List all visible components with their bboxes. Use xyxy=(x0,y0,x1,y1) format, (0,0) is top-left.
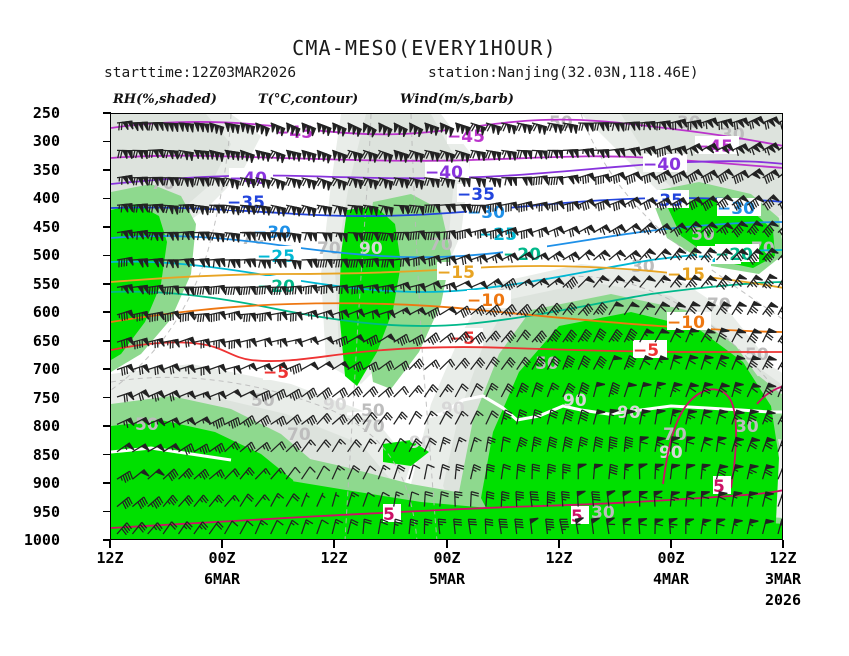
wind-barb xyxy=(270,205,285,216)
wind-barb xyxy=(547,201,564,211)
y-axis-tick-label: 350 xyxy=(0,161,60,179)
wind-barb xyxy=(609,200,626,211)
wind-barb xyxy=(225,311,241,321)
svg-text:90: 90 xyxy=(563,391,587,411)
y-axis-tick-label: 800 xyxy=(0,417,60,435)
x-axis-hour-label: 00Z xyxy=(162,549,282,567)
x-axis-year-label: 2026 xyxy=(723,591,843,609)
wind-barb xyxy=(286,312,302,321)
starttime-label: starttime:12Z03MAR2026 xyxy=(104,65,296,81)
wind-barb xyxy=(240,287,255,295)
wind-barb xyxy=(302,285,318,294)
wind-barb xyxy=(209,205,224,213)
y-axis-tick-label: 550 xyxy=(0,275,60,293)
svg-text:5: 5 xyxy=(383,505,395,525)
wind-barb xyxy=(778,302,783,315)
y-axis-tick xyxy=(103,511,111,513)
wind-barb xyxy=(532,227,549,237)
x-axis-tick xyxy=(333,540,335,548)
x-axis-date-label: 4MAR xyxy=(611,570,731,588)
svg-text:−10: −10 xyxy=(667,313,705,333)
wind-barb xyxy=(563,175,579,184)
wind-barb xyxy=(255,150,270,161)
y-axis-tick-label: 1000 xyxy=(0,531,60,549)
wind-barb xyxy=(578,123,593,131)
svg-text:−20: −20 xyxy=(503,245,541,265)
wind-barb xyxy=(302,259,317,267)
wind-barb xyxy=(302,150,316,162)
y-axis-tick xyxy=(103,368,111,370)
y-axis-tick-label: 250 xyxy=(0,104,60,122)
wind-barb xyxy=(547,252,564,262)
y-axis-tick-label: 600 xyxy=(0,303,60,321)
svg-text:−40: −40 xyxy=(643,155,681,175)
wind-barb xyxy=(517,177,532,185)
wind-barb xyxy=(286,339,302,347)
x-axis-tick xyxy=(558,540,560,548)
y-axis-tick xyxy=(103,454,111,456)
wind-barb xyxy=(532,202,548,211)
wind-barb xyxy=(271,339,288,348)
y-axis-tick-label: 950 xyxy=(0,503,60,521)
x-axis-tick xyxy=(782,540,784,548)
y-axis-tick-label: 850 xyxy=(0,446,60,464)
y-axis-tick xyxy=(103,283,111,285)
wind-barb xyxy=(501,123,516,134)
wind-barb xyxy=(194,314,210,323)
wind-barb xyxy=(516,123,531,134)
chart-page: CMA-MESO(EVERY1HOUR) starttime:12Z03MAR2… xyxy=(0,0,849,656)
wind-barb xyxy=(670,248,686,260)
legend-rh: RH(%,shaded) xyxy=(113,92,217,107)
wind-barb xyxy=(271,312,287,321)
wind-barb xyxy=(624,172,641,185)
wind-barb xyxy=(300,178,316,190)
wind-barb xyxy=(240,313,256,322)
wind-barb xyxy=(547,227,564,238)
wind-barb xyxy=(255,312,271,321)
y-axis-tick-label: 750 xyxy=(0,389,60,407)
wind-barb xyxy=(209,312,225,323)
x-axis-date-label: 3MAR xyxy=(723,570,843,588)
y-axis-tick xyxy=(103,112,111,114)
wind-barb xyxy=(763,303,778,317)
y-axis-tick xyxy=(103,425,111,427)
wind-barb xyxy=(302,233,317,242)
wind-barb xyxy=(315,178,331,191)
y-axis-tick xyxy=(103,198,111,200)
svg-text:70: 70 xyxy=(317,239,341,259)
legend-temperature: T(°C,contour) xyxy=(258,92,358,107)
wind-barb xyxy=(286,178,301,189)
svg-text:−15: −15 xyxy=(667,265,705,285)
wind-barb xyxy=(578,250,595,260)
wind-barb xyxy=(747,275,762,287)
wind-barb xyxy=(640,223,657,235)
wind-barb xyxy=(240,259,256,267)
wind-barb xyxy=(163,340,179,349)
y-axis-tick-label: 450 xyxy=(0,218,60,236)
wind-barb xyxy=(225,260,240,268)
wind-barb xyxy=(547,177,563,186)
legend-wind: Wind(m/s,barb) xyxy=(400,92,514,107)
y-axis-tick xyxy=(103,141,111,143)
wind-barb xyxy=(732,302,747,315)
x-axis-tick xyxy=(221,540,223,548)
wind-barb xyxy=(394,412,408,425)
wind-barb xyxy=(240,339,257,349)
wind-barb xyxy=(609,251,626,261)
wind-barb xyxy=(302,337,319,345)
wind-barb xyxy=(563,227,580,238)
y-axis-tick xyxy=(103,255,111,257)
cross-section-plot: 70 70 70 50 50 50 50 50 50 50 30 30 30 3… xyxy=(110,113,783,540)
wind-barb xyxy=(225,287,240,295)
wind-barb xyxy=(594,174,611,185)
y-axis-tick xyxy=(103,226,111,228)
x-axis-hour-label: 12Z xyxy=(274,549,394,567)
plot-canvas: 70 70 70 50 50 50 50 50 50 50 30 30 30 3… xyxy=(111,114,783,540)
station-label: station:Nanjing(32.03N,118.46E) xyxy=(428,65,699,81)
y-axis-tick-label: 900 xyxy=(0,474,60,492)
wind-barb xyxy=(194,287,209,295)
wind-barb xyxy=(486,254,503,264)
wind-barb xyxy=(594,250,611,260)
x-axis-tick xyxy=(109,540,111,548)
wind-barb xyxy=(532,176,548,185)
wind-barb xyxy=(563,252,580,262)
wind-barb xyxy=(179,312,195,322)
wind-barb xyxy=(501,178,516,186)
wind-barb xyxy=(286,150,301,161)
wind-barb xyxy=(255,338,272,347)
svg-text:50: 50 xyxy=(135,415,159,435)
wind-barb xyxy=(394,386,409,397)
y-axis-tick-label: 500 xyxy=(0,246,60,264)
x-axis-hour-label: 12Z xyxy=(50,549,170,567)
wind-barb xyxy=(209,259,225,268)
x-axis-tick xyxy=(670,540,672,548)
page-title: CMA-MESO(EVERY1HOUR) xyxy=(0,36,849,60)
wind-barb xyxy=(594,225,611,235)
y-axis-tick-label: 700 xyxy=(0,360,60,378)
y-axis-tick-label: 300 xyxy=(0,132,60,150)
y-axis-tick xyxy=(103,311,111,313)
svg-text:−15: −15 xyxy=(437,263,475,283)
wind-barb xyxy=(363,387,378,397)
wind-barb xyxy=(225,340,241,350)
wind-barb xyxy=(424,360,439,370)
x-axis-hour-label: 12Z xyxy=(723,549,843,567)
wind-barb xyxy=(594,200,611,211)
wind-barb xyxy=(778,357,783,370)
svg-text:50: 50 xyxy=(745,345,769,365)
wind-barb xyxy=(269,150,285,163)
y-axis-tick-label: 400 xyxy=(0,189,60,207)
x-axis-date-label: 6MAR xyxy=(162,570,282,588)
wind-barb xyxy=(378,387,393,397)
y-axis-tick xyxy=(103,340,111,342)
wind-barb xyxy=(348,387,363,397)
wind-barb xyxy=(578,173,595,184)
wind-barb xyxy=(302,362,319,369)
y-axis-tick xyxy=(103,397,111,399)
wind-barb xyxy=(209,286,225,295)
x-axis-hour-label: 00Z xyxy=(611,549,731,567)
wind-barb xyxy=(763,329,777,343)
x-axis-date-label: 5MAR xyxy=(387,570,507,588)
svg-text:70: 70 xyxy=(287,425,311,445)
wind-barb xyxy=(317,150,331,163)
x-axis-hour-label: 00Z xyxy=(387,549,507,567)
wind-barb xyxy=(747,302,761,315)
wind-barb xyxy=(531,123,547,135)
y-axis-tick-label: 650 xyxy=(0,332,60,350)
x-axis-hour-label: 12Z xyxy=(499,549,619,567)
wind-barb xyxy=(578,225,595,235)
y-axis-tick xyxy=(103,169,111,171)
y-axis-tick xyxy=(103,482,111,484)
x-axis-tick xyxy=(446,540,448,548)
wind-barb xyxy=(240,363,257,370)
wind-barb xyxy=(409,386,423,398)
